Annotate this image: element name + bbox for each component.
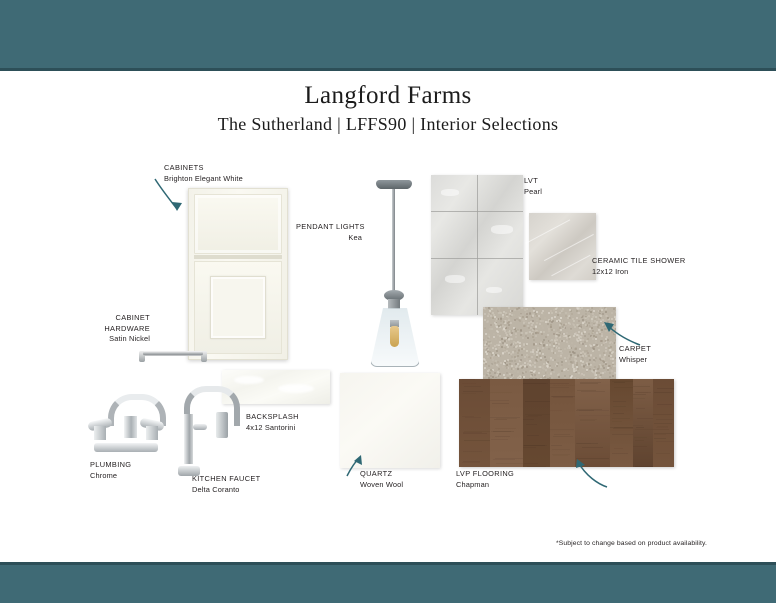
swatch-plumbing-faucet (88, 392, 164, 454)
lav-faucet-handle-post-right (146, 426, 158, 440)
swatch-lvt (431, 175, 523, 315)
label-pendant-lights: PENDANT LIGHTS Kea (296, 222, 362, 243)
page-title: Langford Farms (0, 82, 776, 110)
pendant-neck (388, 299, 400, 309)
swatch-lvp-flooring (459, 379, 674, 467)
swatch-ceramic-tile (529, 213, 596, 280)
label-lvp-flooring: LVP FLOORING Chapman (456, 469, 514, 490)
cabinet-door-panel (194, 261, 282, 354)
kitchen-faucet-spray-head (216, 412, 228, 438)
kitchen-faucet-lever (193, 424, 207, 430)
pendant-canopy (376, 180, 412, 189)
lav-faucet-handle-post-left (94, 426, 106, 440)
footnote: *Subject to change based on product avai… (556, 540, 707, 547)
board-header: Langford Farms The Sutherland | LFFS90 |… (0, 82, 776, 135)
swatch-quartz (340, 373, 440, 468)
label-carpet: CARPET Whisper (619, 344, 651, 365)
page-subtitle: The Sutherland | LFFS90 | Interior Selec… (0, 114, 776, 135)
lav-faucet-base-plate (94, 443, 158, 452)
label-cabinet-hardware: CABINET HARDWARE Satin Nickel (72, 313, 150, 345)
cabinet-recessed-panel (210, 276, 266, 339)
label-lvt: LVT Pearl (524, 176, 542, 197)
label-quartz: QUARTZ Woven Wool (360, 469, 403, 490)
label-backsplash: BACKSPLASH 4x12 Santorini (246, 412, 299, 433)
pendant-bulb (390, 326, 399, 347)
label-kitchen-faucet: KITCHEN FAUCET Delta Coranto (192, 474, 261, 495)
bottom-banner (0, 562, 776, 603)
pendant-rod (392, 189, 395, 294)
cabinet-drawer-panel (194, 194, 282, 254)
label-ceramic-tile-shower: CERAMIC TILE SHOWER 12x12 Iron (592, 256, 686, 277)
swatch-pendant-light (365, 180, 423, 370)
swatch-cabinet-hardware (137, 346, 209, 362)
label-plumbing: PLUMBING Chrome (90, 460, 131, 481)
selections-board: Langford Farms The Sutherland | LFFS90 |… (0, 0, 776, 600)
kitchen-faucet-stem (184, 414, 193, 464)
swatch-kitchen-faucet (176, 386, 232, 476)
cabinet-reveal-gap (194, 255, 282, 259)
top-banner (0, 0, 776, 71)
bar-pull-handle (143, 351, 203, 356)
swatch-cabinets (188, 188, 288, 360)
label-cabinets: CABINETS Brighton Elegant White (164, 163, 243, 184)
lav-faucet-column (124, 416, 137, 438)
